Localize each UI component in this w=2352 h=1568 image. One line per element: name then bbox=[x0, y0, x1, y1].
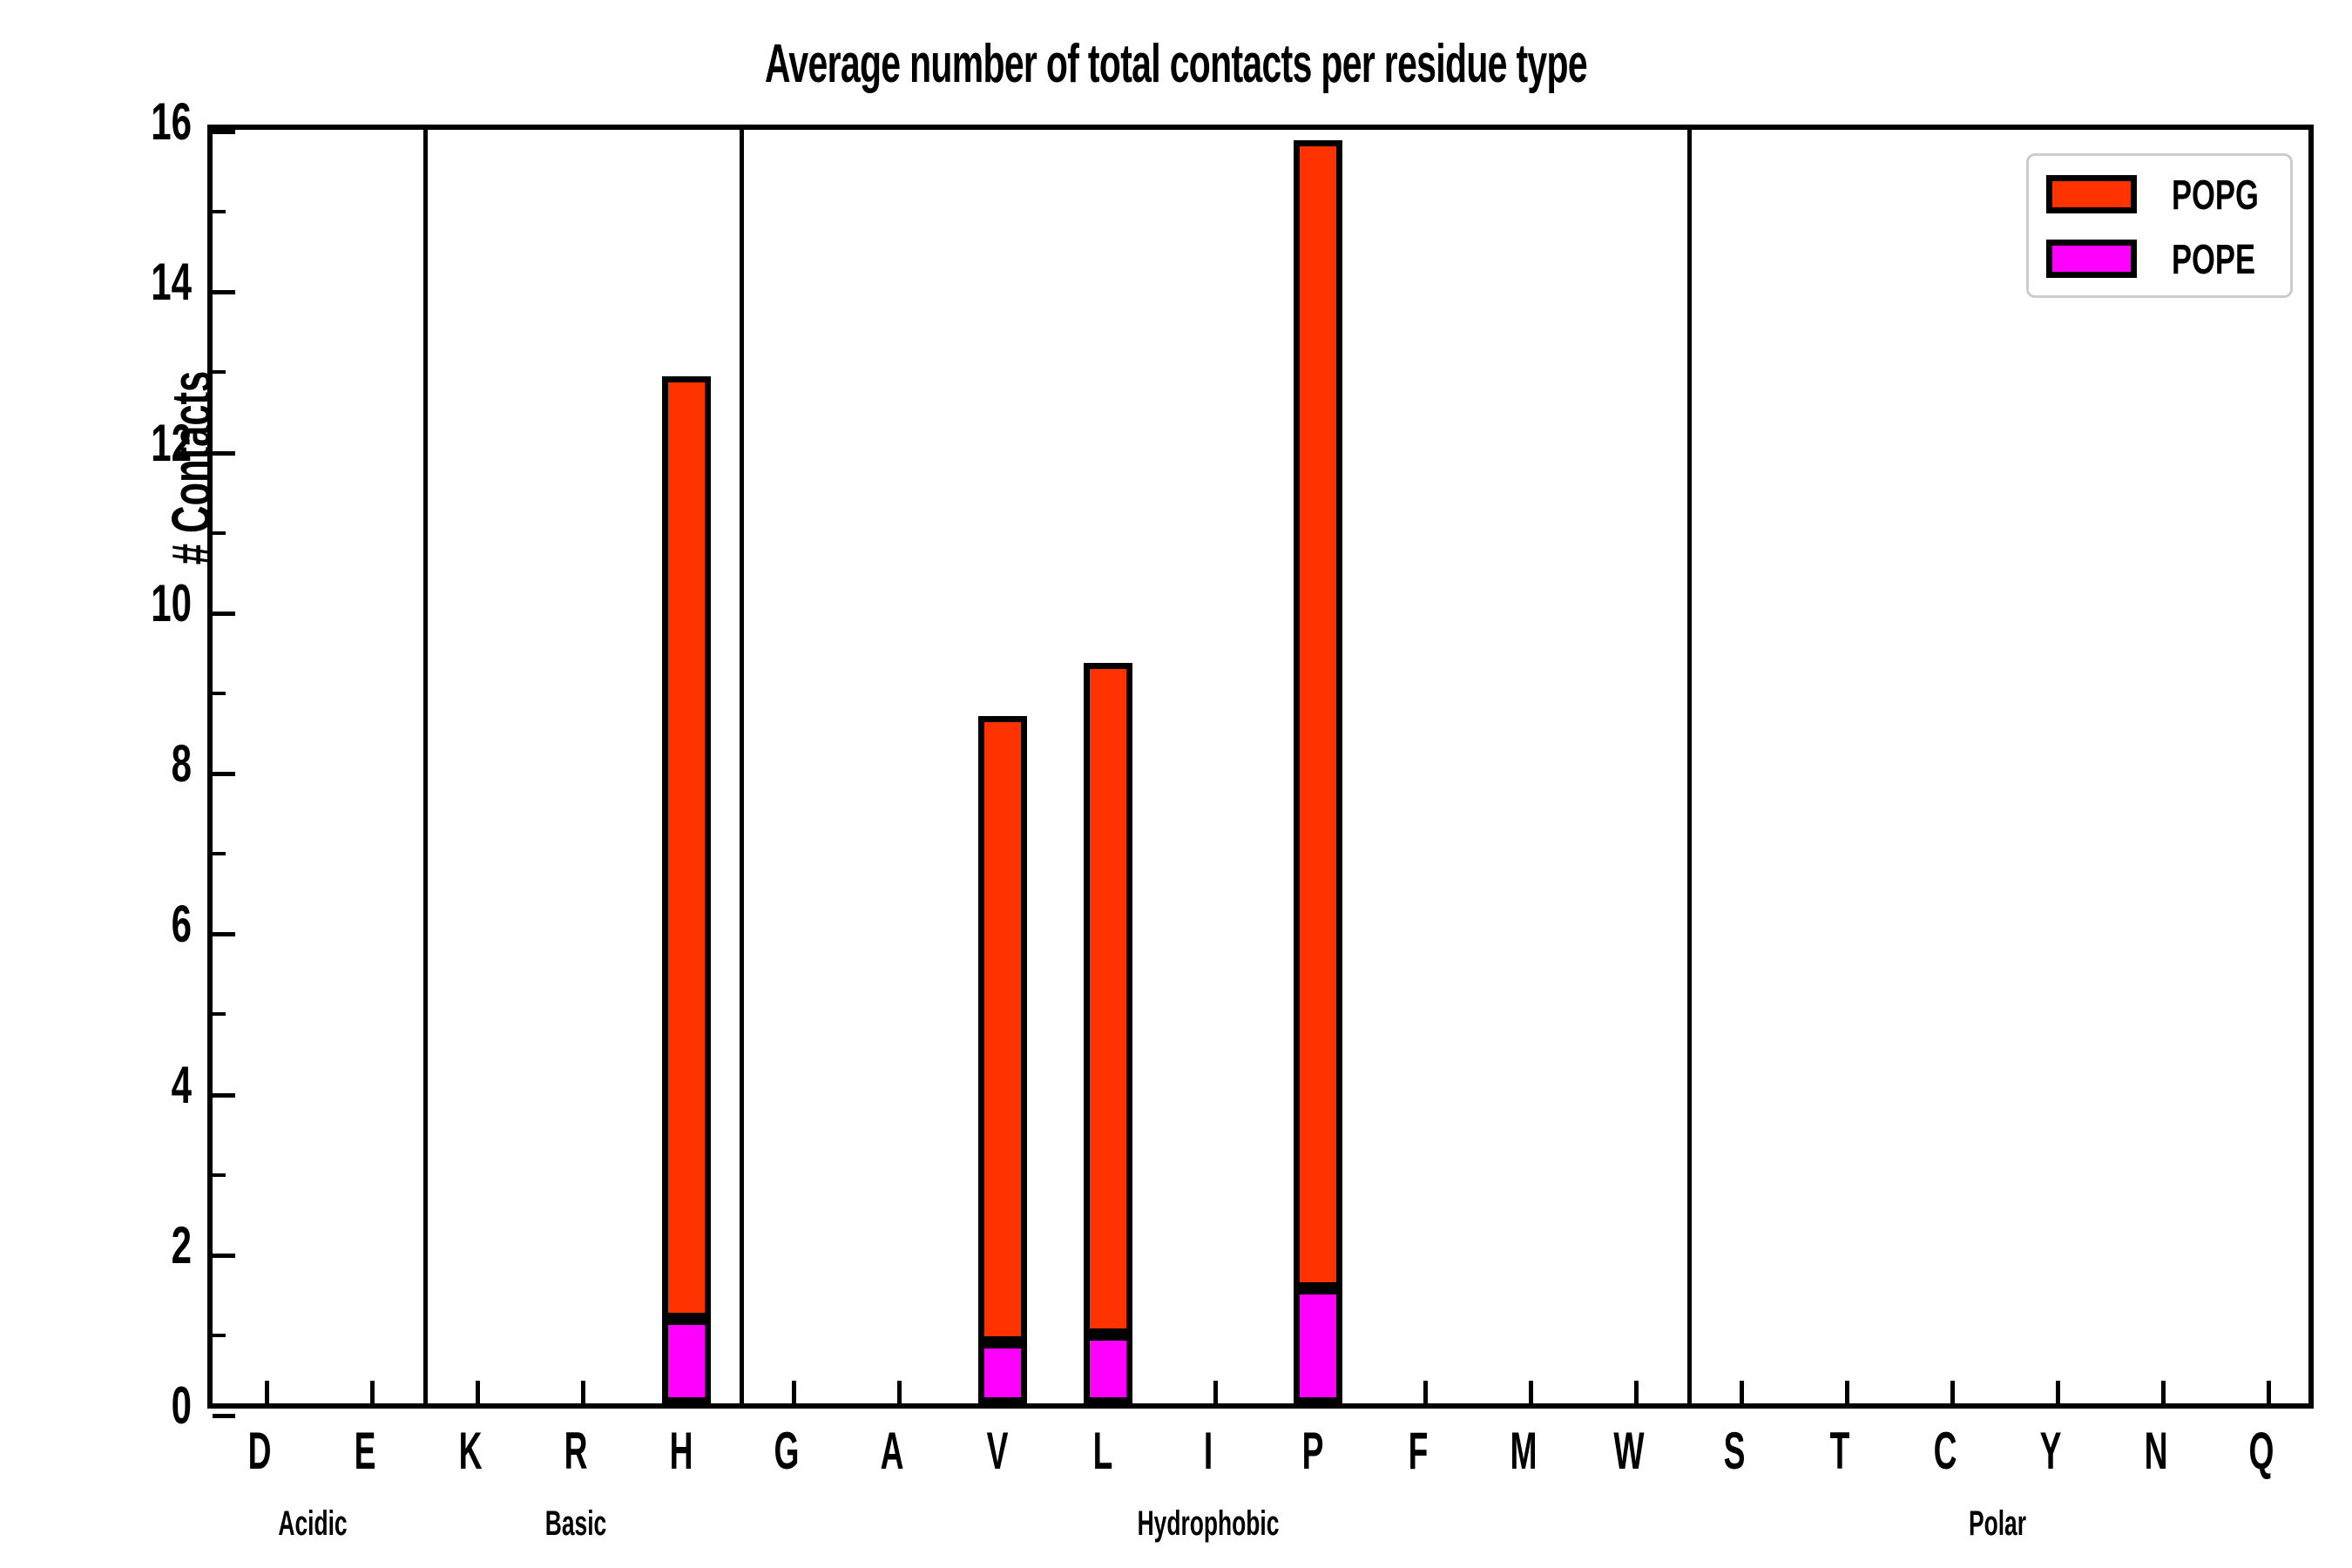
bar-p[interactable] bbox=[1294, 140, 1342, 1403]
y-tick-major bbox=[213, 932, 235, 936]
y-tick-minor bbox=[213, 210, 226, 213]
x-tick-label-q: Q bbox=[2228, 1421, 2293, 1481]
x-tick-label-f: F bbox=[1386, 1421, 1450, 1481]
x-tick-label-n: N bbox=[2123, 1421, 2187, 1481]
legend-entry-pope[interactable]: POPE bbox=[2046, 240, 2281, 281]
x-tick bbox=[1634, 1381, 1639, 1403]
x-tick bbox=[1740, 1381, 1744, 1403]
bar-segment-popg bbox=[978, 716, 1027, 1342]
y-tick-label: 2 bbox=[100, 1215, 192, 1275]
bar-segment-pope bbox=[978, 1342, 1027, 1403]
x-tick-label-d: D bbox=[227, 1421, 292, 1481]
legend-swatch-pope bbox=[2046, 240, 2137, 278]
x-tick bbox=[1845, 1381, 1849, 1403]
x-tick bbox=[2161, 1381, 2166, 1403]
y-tick-label: 6 bbox=[100, 894, 192, 954]
x-tick bbox=[476, 1381, 480, 1403]
x-tick bbox=[897, 1381, 902, 1403]
x-tick-label-t: T bbox=[1808, 1421, 1872, 1481]
y-tick-minor bbox=[213, 852, 226, 855]
y-tick-label: 10 bbox=[100, 573, 192, 633]
y-tick-minor bbox=[213, 370, 226, 374]
x-tick-label-v: V bbox=[965, 1421, 1030, 1481]
legend-label-popg: POPG bbox=[2172, 172, 2259, 220]
group-separator bbox=[423, 130, 428, 1403]
bar-segment-popg bbox=[1084, 663, 1132, 1335]
y-tick-label: 14 bbox=[100, 252, 192, 312]
x-tick bbox=[1950, 1381, 1955, 1403]
x-tick bbox=[2267, 1381, 2271, 1403]
x-tick bbox=[265, 1381, 269, 1403]
x-tick bbox=[370, 1381, 375, 1403]
bar-segment-popg bbox=[1294, 140, 1342, 1288]
group-label-polar: Polar bbox=[1882, 1504, 2112, 1544]
y-tick-label: 16 bbox=[100, 91, 192, 152]
x-tick bbox=[1423, 1381, 1428, 1403]
y-tick-label: 12 bbox=[100, 413, 192, 473]
y-tick-minor bbox=[213, 531, 226, 535]
legend: POPG POPE bbox=[2026, 153, 2293, 298]
bar-h[interactable] bbox=[662, 376, 711, 1403]
group-separator bbox=[1687, 130, 1692, 1403]
chart-root: Average number of total contacts per res… bbox=[0, 0, 2352, 1568]
y-tick-label: 4 bbox=[100, 1055, 192, 1115]
x-tick-label-a: A bbox=[860, 1421, 924, 1481]
x-tick bbox=[1529, 1381, 1533, 1403]
x-tick-label-c: C bbox=[1913, 1421, 1977, 1481]
x-tick-label-h: H bbox=[649, 1421, 713, 1481]
y-tick-major bbox=[213, 451, 235, 456]
group-label-basic: Basic bbox=[461, 1504, 691, 1544]
y-tick-major bbox=[213, 1093, 235, 1098]
y-tick-major bbox=[213, 290, 235, 294]
bar-l[interactable] bbox=[1084, 663, 1132, 1403]
y-tick-major bbox=[213, 1414, 235, 1418]
y-tick-major bbox=[213, 612, 235, 616]
x-tick-label-p: P bbox=[1281, 1421, 1345, 1481]
bar-v[interactable] bbox=[978, 716, 1027, 1404]
x-tick-label-i: I bbox=[1175, 1421, 1240, 1481]
x-tick-label-m: M bbox=[1491, 1421, 1556, 1481]
x-tick-label-y: Y bbox=[2018, 1421, 2083, 1481]
page-title: Average number of total contacts per res… bbox=[400, 33, 1952, 95]
plot-area bbox=[207, 125, 2314, 1409]
y-tick-label: 0 bbox=[100, 1375, 192, 1436]
y-tick-major bbox=[213, 772, 235, 776]
y-tick-label: 8 bbox=[100, 733, 192, 794]
y-tick-minor bbox=[213, 692, 226, 695]
x-tick-label-w: W bbox=[1597, 1421, 1661, 1481]
group-label-hydrophobic: Hydrophobic bbox=[1093, 1504, 1323, 1544]
legend-label-pope: POPE bbox=[2172, 236, 2255, 284]
bar-segment-pope bbox=[662, 1319, 711, 1403]
group-label-acidic: Acidic bbox=[198, 1504, 428, 1544]
x-tick bbox=[1213, 1381, 1218, 1403]
bar-segment-pope bbox=[1294, 1288, 1342, 1403]
legend-entry-popg[interactable]: POPG bbox=[2046, 175, 2281, 217]
legend-swatch-popg bbox=[2046, 175, 2137, 213]
x-tick-label-e: E bbox=[333, 1421, 397, 1481]
y-tick-minor bbox=[213, 1173, 226, 1177]
group-separator bbox=[740, 130, 744, 1403]
x-tick-label-r: R bbox=[544, 1421, 608, 1481]
x-tick-label-g: G bbox=[754, 1421, 819, 1481]
x-tick-label-l: L bbox=[1070, 1421, 1134, 1481]
y-tick-minor bbox=[213, 1334, 226, 1337]
bar-segment-popg bbox=[662, 376, 711, 1319]
y-tick-major bbox=[213, 1254, 235, 1258]
x-tick-label-s: S bbox=[1702, 1421, 1767, 1481]
bar-segment-pope bbox=[1084, 1335, 1132, 1403]
x-tick-label-k: K bbox=[438, 1421, 503, 1481]
x-tick bbox=[792, 1381, 796, 1403]
x-tick bbox=[2056, 1381, 2060, 1403]
x-tick bbox=[581, 1381, 585, 1403]
y-tick-minor bbox=[213, 1012, 226, 1016]
y-tick-major bbox=[213, 130, 235, 134]
